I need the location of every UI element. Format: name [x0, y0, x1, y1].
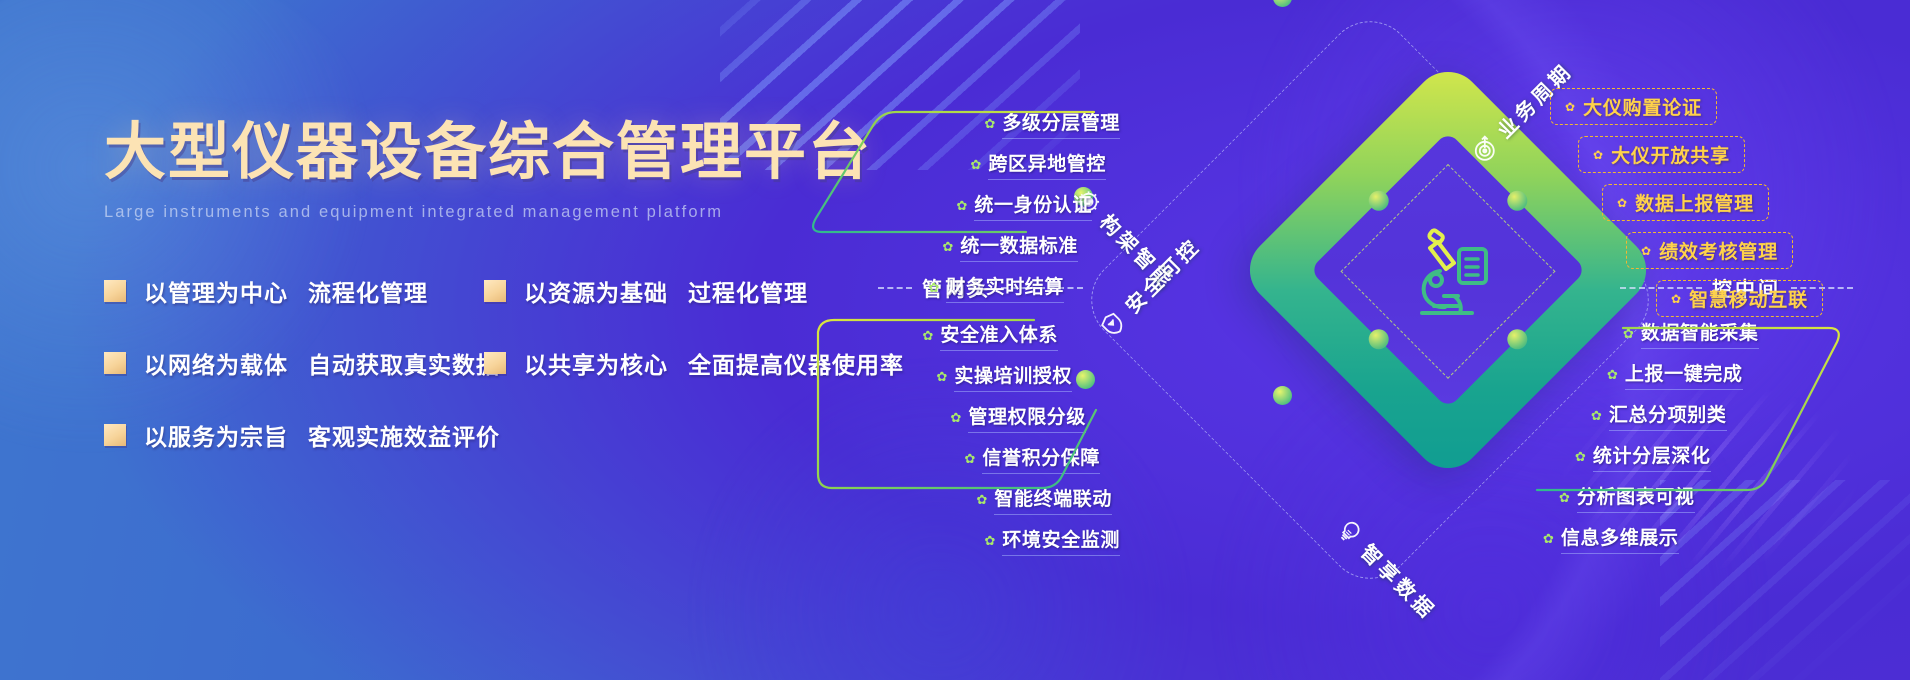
panel-top-left: ✿多级分层管理 ✿跨区异地管控 ✿统一身份认证 ✿统一数据标准 ✿财务实时结算 [830, 108, 1120, 313]
feature-label: 以服务为宗旨客观实施效益评价 [144, 418, 500, 452]
square-bullet-icon [104, 424, 126, 446]
tag-chip[interactable]: ✿智慧移动互联 [1656, 280, 1823, 317]
panel-frame-bottom-left [804, 314, 1114, 514]
tag-chip[interactable]: ✿数据上报管理 [1602, 184, 1769, 221]
accent-dot [1273, 0, 1292, 7]
list-item: ✿信息多维展示 [1543, 523, 1835, 554]
architecture-diagram: 构架智能 业务周期 安全可控 [1020, 30, 1910, 650]
tag-chip[interactable]: ✿绩效考核管理 [1626, 232, 1793, 269]
panel-bottom-right: ✿数据智能采集 ✿上报一键完成 ✿汇总分项别类 ✿统计分层深化 ✿分析图表可视 … [1525, 318, 1835, 564]
panel-top-right: ✿大仪购置论证 ✿大仪开放共享 ✿数据上报管理 ✿绩效考核管理 ✿智慧移动互联 [1490, 88, 1890, 328]
feature-item: 以网络为载体自动获取真实数据 [104, 346, 484, 380]
tag-chip[interactable]: ✿大仪开放共享 [1578, 136, 1745, 173]
square-bullet-icon [104, 280, 126, 302]
star-icon: ✿ [1543, 532, 1554, 545]
tag-chip[interactable]: ✿大仪购置论证 [1550, 88, 1717, 125]
inner-node-dot [1369, 329, 1389, 349]
banner-stage: 大型仪器设备综合管理平台 Large instruments and equip… [0, 0, 1910, 680]
star-icon: ✿ [1641, 244, 1651, 258]
feature-item: 以资源为基础过程化管理 [484, 274, 808, 308]
star-icon: ✿ [1617, 196, 1627, 210]
star-icon: ✿ [1565, 100, 1575, 114]
panel-bottom-left: ✿安全准入体系 ✿实操培训授权 ✿管理权限分级 ✿信誉积分保障 ✿智能终端联动 … [830, 320, 1120, 566]
panel-frame-bottom-right [1515, 314, 1855, 514]
feature-item: 以管理为中心流程化管理 [104, 274, 484, 308]
feature-label: 以资源为基础过程化管理 [524, 274, 808, 308]
list-item: ✿环境安全监测 [830, 525, 1120, 556]
star-icon: ✿ [1593, 148, 1603, 162]
feature-item: 以服务为宗旨客观实施效益评价 [104, 418, 484, 452]
feature-label: 以网络为载体自动获取真实数据 [144, 346, 500, 380]
inner-node-dot [1369, 191, 1389, 211]
panel-frame-top-left [808, 106, 1108, 296]
accent-dot [1273, 386, 1292, 405]
microscope-icon [1396, 218, 1500, 322]
square-bullet-icon [484, 280, 506, 302]
square-bullet-icon [484, 352, 506, 374]
square-bullet-icon [104, 352, 126, 374]
star-icon: ✿ [984, 534, 995, 547]
star-icon: ✿ [1671, 292, 1681, 306]
feature-label: 以管理为中心流程化管理 [144, 274, 428, 308]
